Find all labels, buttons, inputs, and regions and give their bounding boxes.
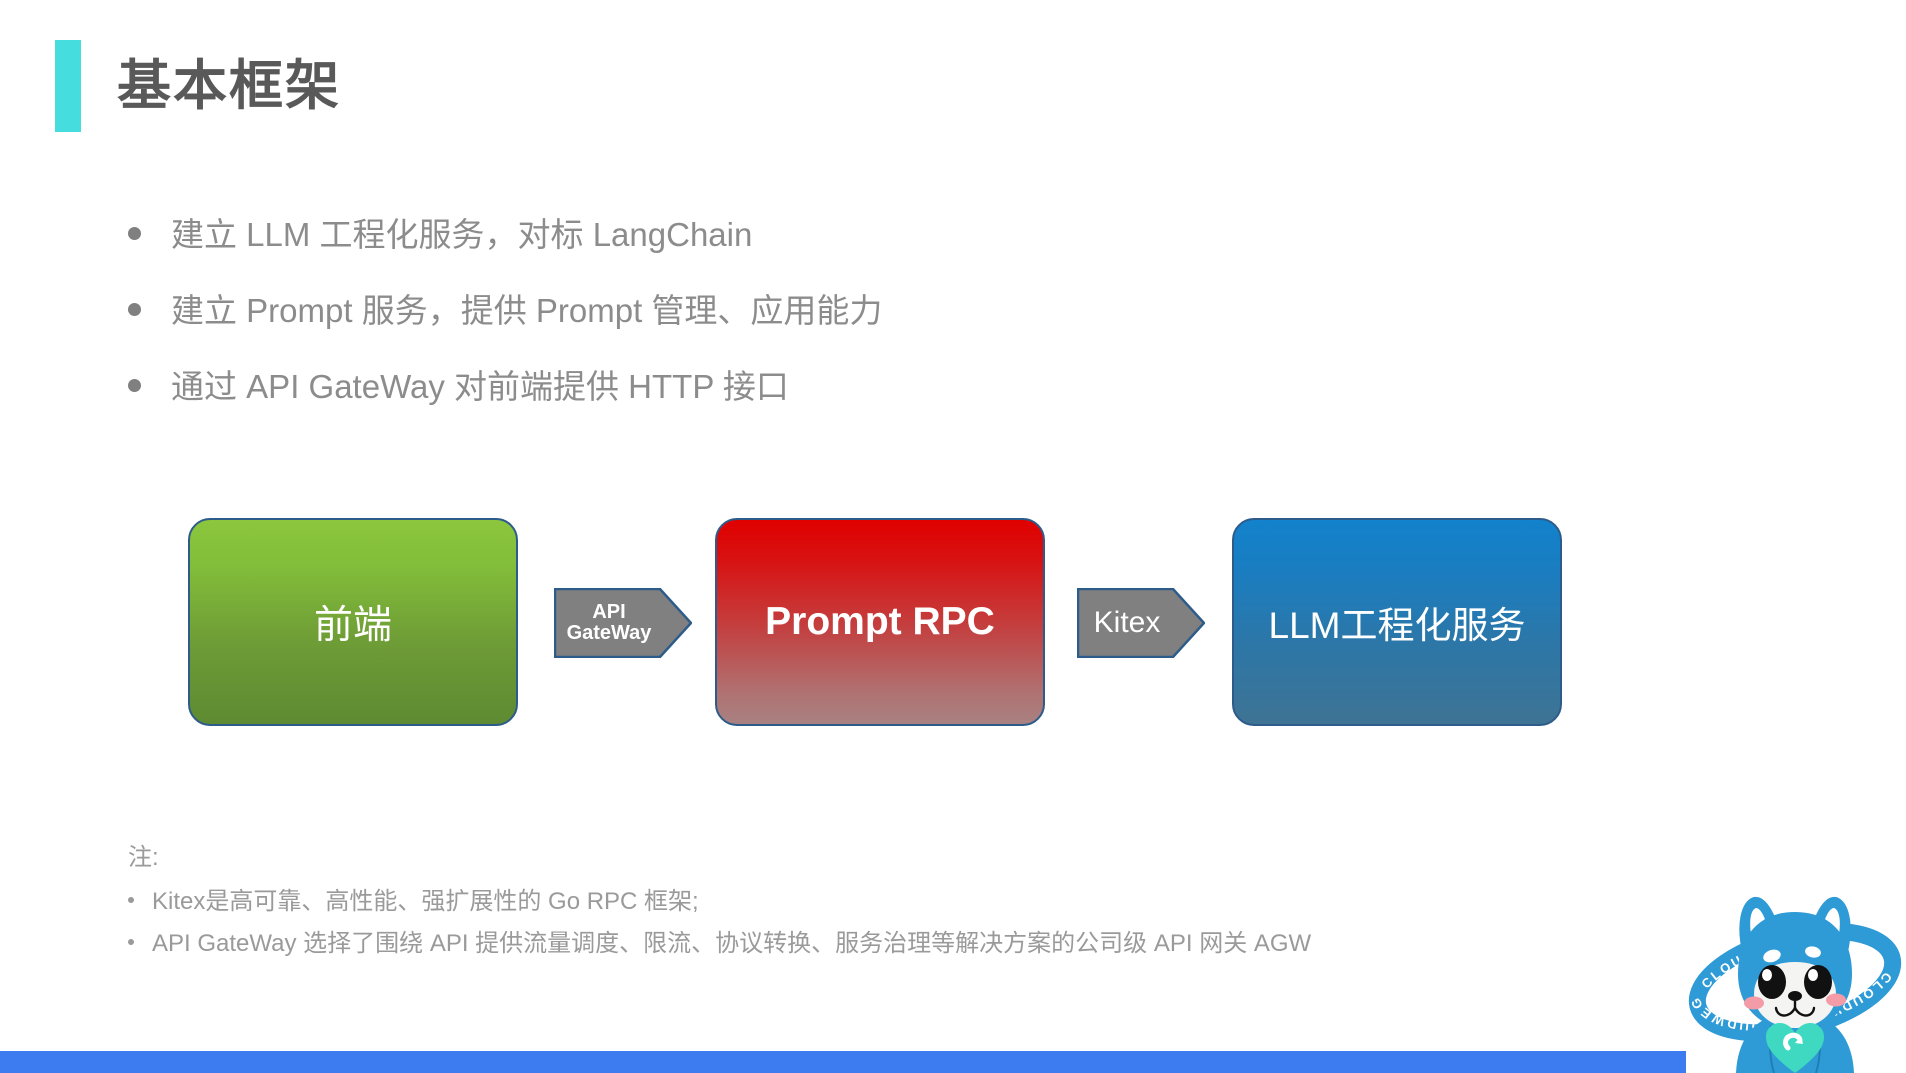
footnote-text: API GateWay 选择了围绕 API 提供流量调度、限流、协议转换、服务治… xyxy=(152,928,1311,960)
bullet-text: 建立 Prompt 服务，提供 Prompt 管理、应用能力 xyxy=(171,291,882,331)
diagram-arrow-kitex: Kitex xyxy=(1077,588,1205,658)
bullet-dot-icon xyxy=(128,379,141,392)
bottom-accent-bar xyxy=(0,1051,1686,1073)
title-accent-bar xyxy=(55,40,81,132)
cloudwego-mascot-logo: CLOUDWEGO CLOUDWEGO CLOUDWEGO xyxy=(1684,878,1906,1073)
diagram-node-prompt-rpc: Prompt RPC xyxy=(715,518,1045,726)
footnote-block: 注: Kitex是高可靠、高性能、强扩展性的 Go RPC 框架; API Ga… xyxy=(128,840,1578,961)
bullet-item: 通过 API GateWay 对前端提供 HTTP 接口 xyxy=(128,367,1528,443)
mascot-eye-right xyxy=(1804,965,1832,999)
mascot-nose xyxy=(1788,991,1802,1001)
bullet-item: 建立 Prompt 服务，提供 Prompt 管理、应用能力 xyxy=(128,291,1528,367)
bullet-dot-icon xyxy=(128,303,141,316)
diagram-arrow-label-line1: Kitex xyxy=(1077,607,1177,639)
mascot-eye-left xyxy=(1758,965,1786,999)
diagram-arrow-label-line1: API xyxy=(554,602,664,623)
diagram-node-llm-service: LLM工程化服务 xyxy=(1232,518,1562,726)
architecture-diagram: 前端 API GateWay Prompt RPC Kitex LLM工程化服务 xyxy=(0,510,1906,740)
footnote-heading: 注: xyxy=(128,840,1578,876)
bullet-dot-icon xyxy=(128,227,141,240)
mascot-blush-left xyxy=(1744,997,1764,1010)
diagram-node-frontend: 前端 xyxy=(188,518,518,726)
diagram-arrow-label: API GateWay xyxy=(554,602,692,644)
diagram-node-label: 前端 xyxy=(314,594,392,650)
diagram-arrow-label: Kitex xyxy=(1077,607,1205,639)
mascot-blush-right xyxy=(1826,994,1846,1007)
diagram-arrow-api-gateway: API GateWay xyxy=(554,588,692,658)
page-title: 基本框架 xyxy=(117,59,341,113)
mascot-head xyxy=(1738,912,1852,1030)
footnote-text: Kitex是高可靠、高性能、强扩展性的 Go RPC 框架; xyxy=(152,886,699,918)
slide-header: 基本框架 xyxy=(55,40,341,132)
footnote-item: Kitex是高可靠、高性能、强扩展性的 Go RPC 框架; xyxy=(128,886,1578,918)
bullet-item: 建立 LLM 工程化服务，对标 LangChain xyxy=(128,215,1528,291)
slide-canvas: 基本框架 建立 LLM 工程化服务，对标 LangChain 建立 Prompt… xyxy=(0,0,1906,1073)
footnote-dot-icon xyxy=(128,939,134,945)
bullet-text: 建立 LLM 工程化服务，对标 LangChain xyxy=(171,215,752,255)
bullet-list: 建立 LLM 工程化服务，对标 LangChain 建立 Prompt 服务，提… xyxy=(128,215,1528,443)
diagram-arrow-label-line2: GateWay xyxy=(554,623,664,644)
diagram-node-label: LLM工程化服务 xyxy=(1269,595,1526,649)
bullet-text: 通过 API GateWay 对前端提供 HTTP 接口 xyxy=(171,367,789,407)
footnote-dot-icon xyxy=(128,897,134,903)
footnote-item: API GateWay 选择了围绕 API 提供流量调度、限流、协议转换、服务治… xyxy=(128,928,1578,960)
diagram-node-label: Prompt RPC xyxy=(765,600,995,644)
